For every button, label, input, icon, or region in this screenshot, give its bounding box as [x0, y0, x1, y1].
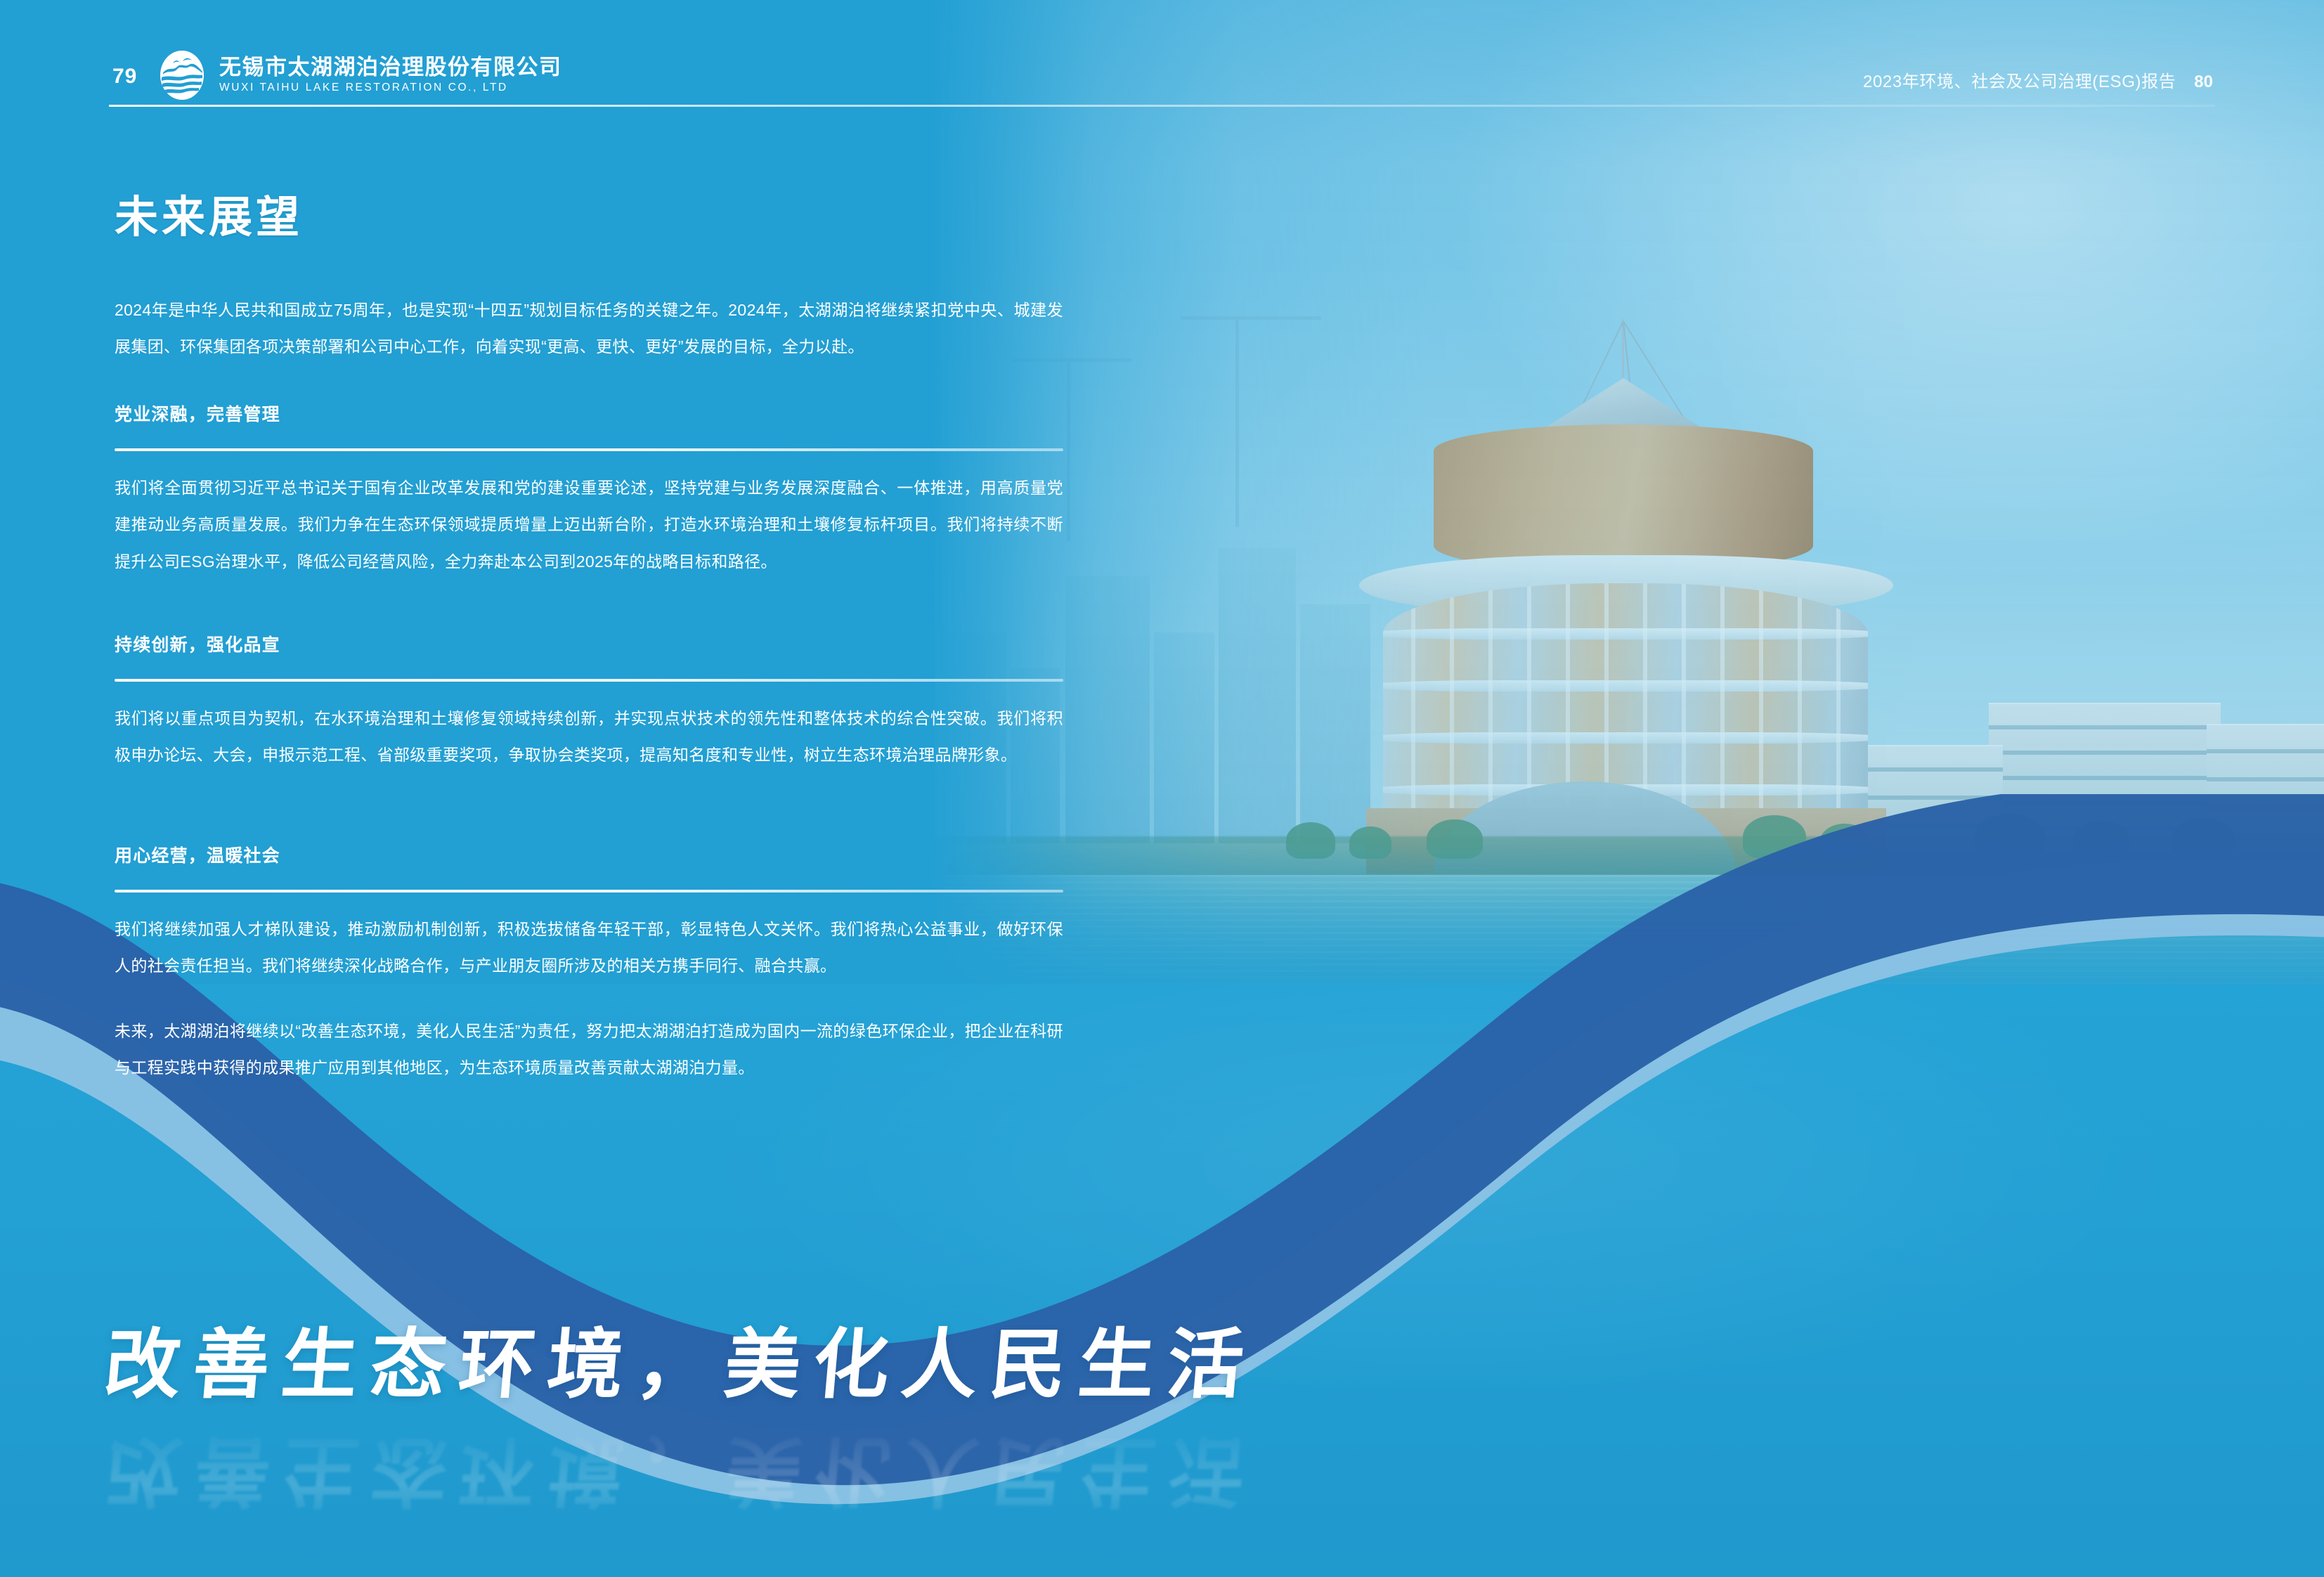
report-title: 2023年环境、社会及公司治理(ESG)报告 [1863, 67, 2176, 92]
section-heading: 用心经营，温暖社会 [115, 842, 1063, 867]
bottom-slogan-block: 改善生态环境，美化人民生活 改善生态环境，美化人民生活 [105, 1304, 1257, 1531]
section-social-care: 用心经营，温暖社会 我们将继续加强人才梯队建设，推动激励机制创新，积极选拔储备年… [115, 842, 1063, 985]
company-logo: 无锡市太湖湖泊治理股份有限公司 WUXI TAIHU LAKE RESTORAT… [156, 49, 562, 101]
section-party-management: 党业深融，完善管理 我们将全面贯彻习近平总书记关于国有企业改革发展和党的建设重要… [115, 401, 1063, 580]
company-name-en: WUXI TAIHU LAKE RESTORATION CO., LTD [219, 82, 562, 95]
page-number-right: 80 [2194, 72, 2213, 92]
photo-bottom-fade [935, 843, 2324, 1005]
page-number-left: 79 [112, 65, 137, 89]
bottom-slogan-reflection: 改善生态环境，美化人民生活 [100, 1422, 1261, 1531]
page-header: 79 无锡市太湖湖泊治理股份有限公司 [0, 0, 2324, 107]
section-body: 我们将全面贯彻习近平总书记关于国有企业改革发展和党的建设重要论述，坚持党建与业务… [115, 469, 1063, 580]
company-wordmark: 无锡市太湖湖泊治理股份有限公司 WUXI TAIHU LAKE RESTORAT… [219, 56, 562, 94]
header-divider [109, 105, 2215, 107]
taihu-lake-oval-logo-icon [156, 49, 208, 101]
section-divider [115, 890, 1063, 893]
section-innovation-branding: 持续创新，强化品宣 我们将以重点项目为契机，在水环境治理和土壤修复领域持续创新，… [115, 631, 1063, 774]
section-body: 我们将继续加强人才梯队建设，推动激励机制创新，积极选拔储备年轻干部，彰显特色人文… [115, 911, 1063, 985]
closing-paragraph: 未来，太湖湖泊将继续以“改善生态环境，美化人民生活”为责任，努力把太湖湖泊打造成… [115, 1013, 1063, 1086]
section-divider [115, 679, 1063, 682]
company-name-cn: 无锡市太湖湖泊治理股份有限公司 [219, 56, 562, 79]
esg-report-page: 79 无锡市太湖湖泊治理股份有限公司 [0, 0, 2324, 1577]
section-heading: 持续创新，强化品宣 [115, 631, 1063, 656]
page-title: 未来展望 [115, 181, 303, 245]
building-photograph [935, 0, 2324, 1005]
lead-paragraph: 2024年是中华人民共和国成立75周年，也是实现“十四五”规划目标任务的关键之年… [115, 292, 1063, 365]
header-right-meta: 2023年环境、社会及公司治理(ESG)报告 80 [1863, 67, 2213, 92]
bottom-slogan: 改善生态环境，美化人民生活 [100, 1304, 1261, 1413]
section-body: 我们将以重点项目为契机，在水环境治理和土壤修复领域持续创新，并实现点状技术的领先… [115, 700, 1063, 774]
section-divider [115, 448, 1063, 451]
section-heading: 党业深融，完善管理 [115, 401, 1063, 426]
